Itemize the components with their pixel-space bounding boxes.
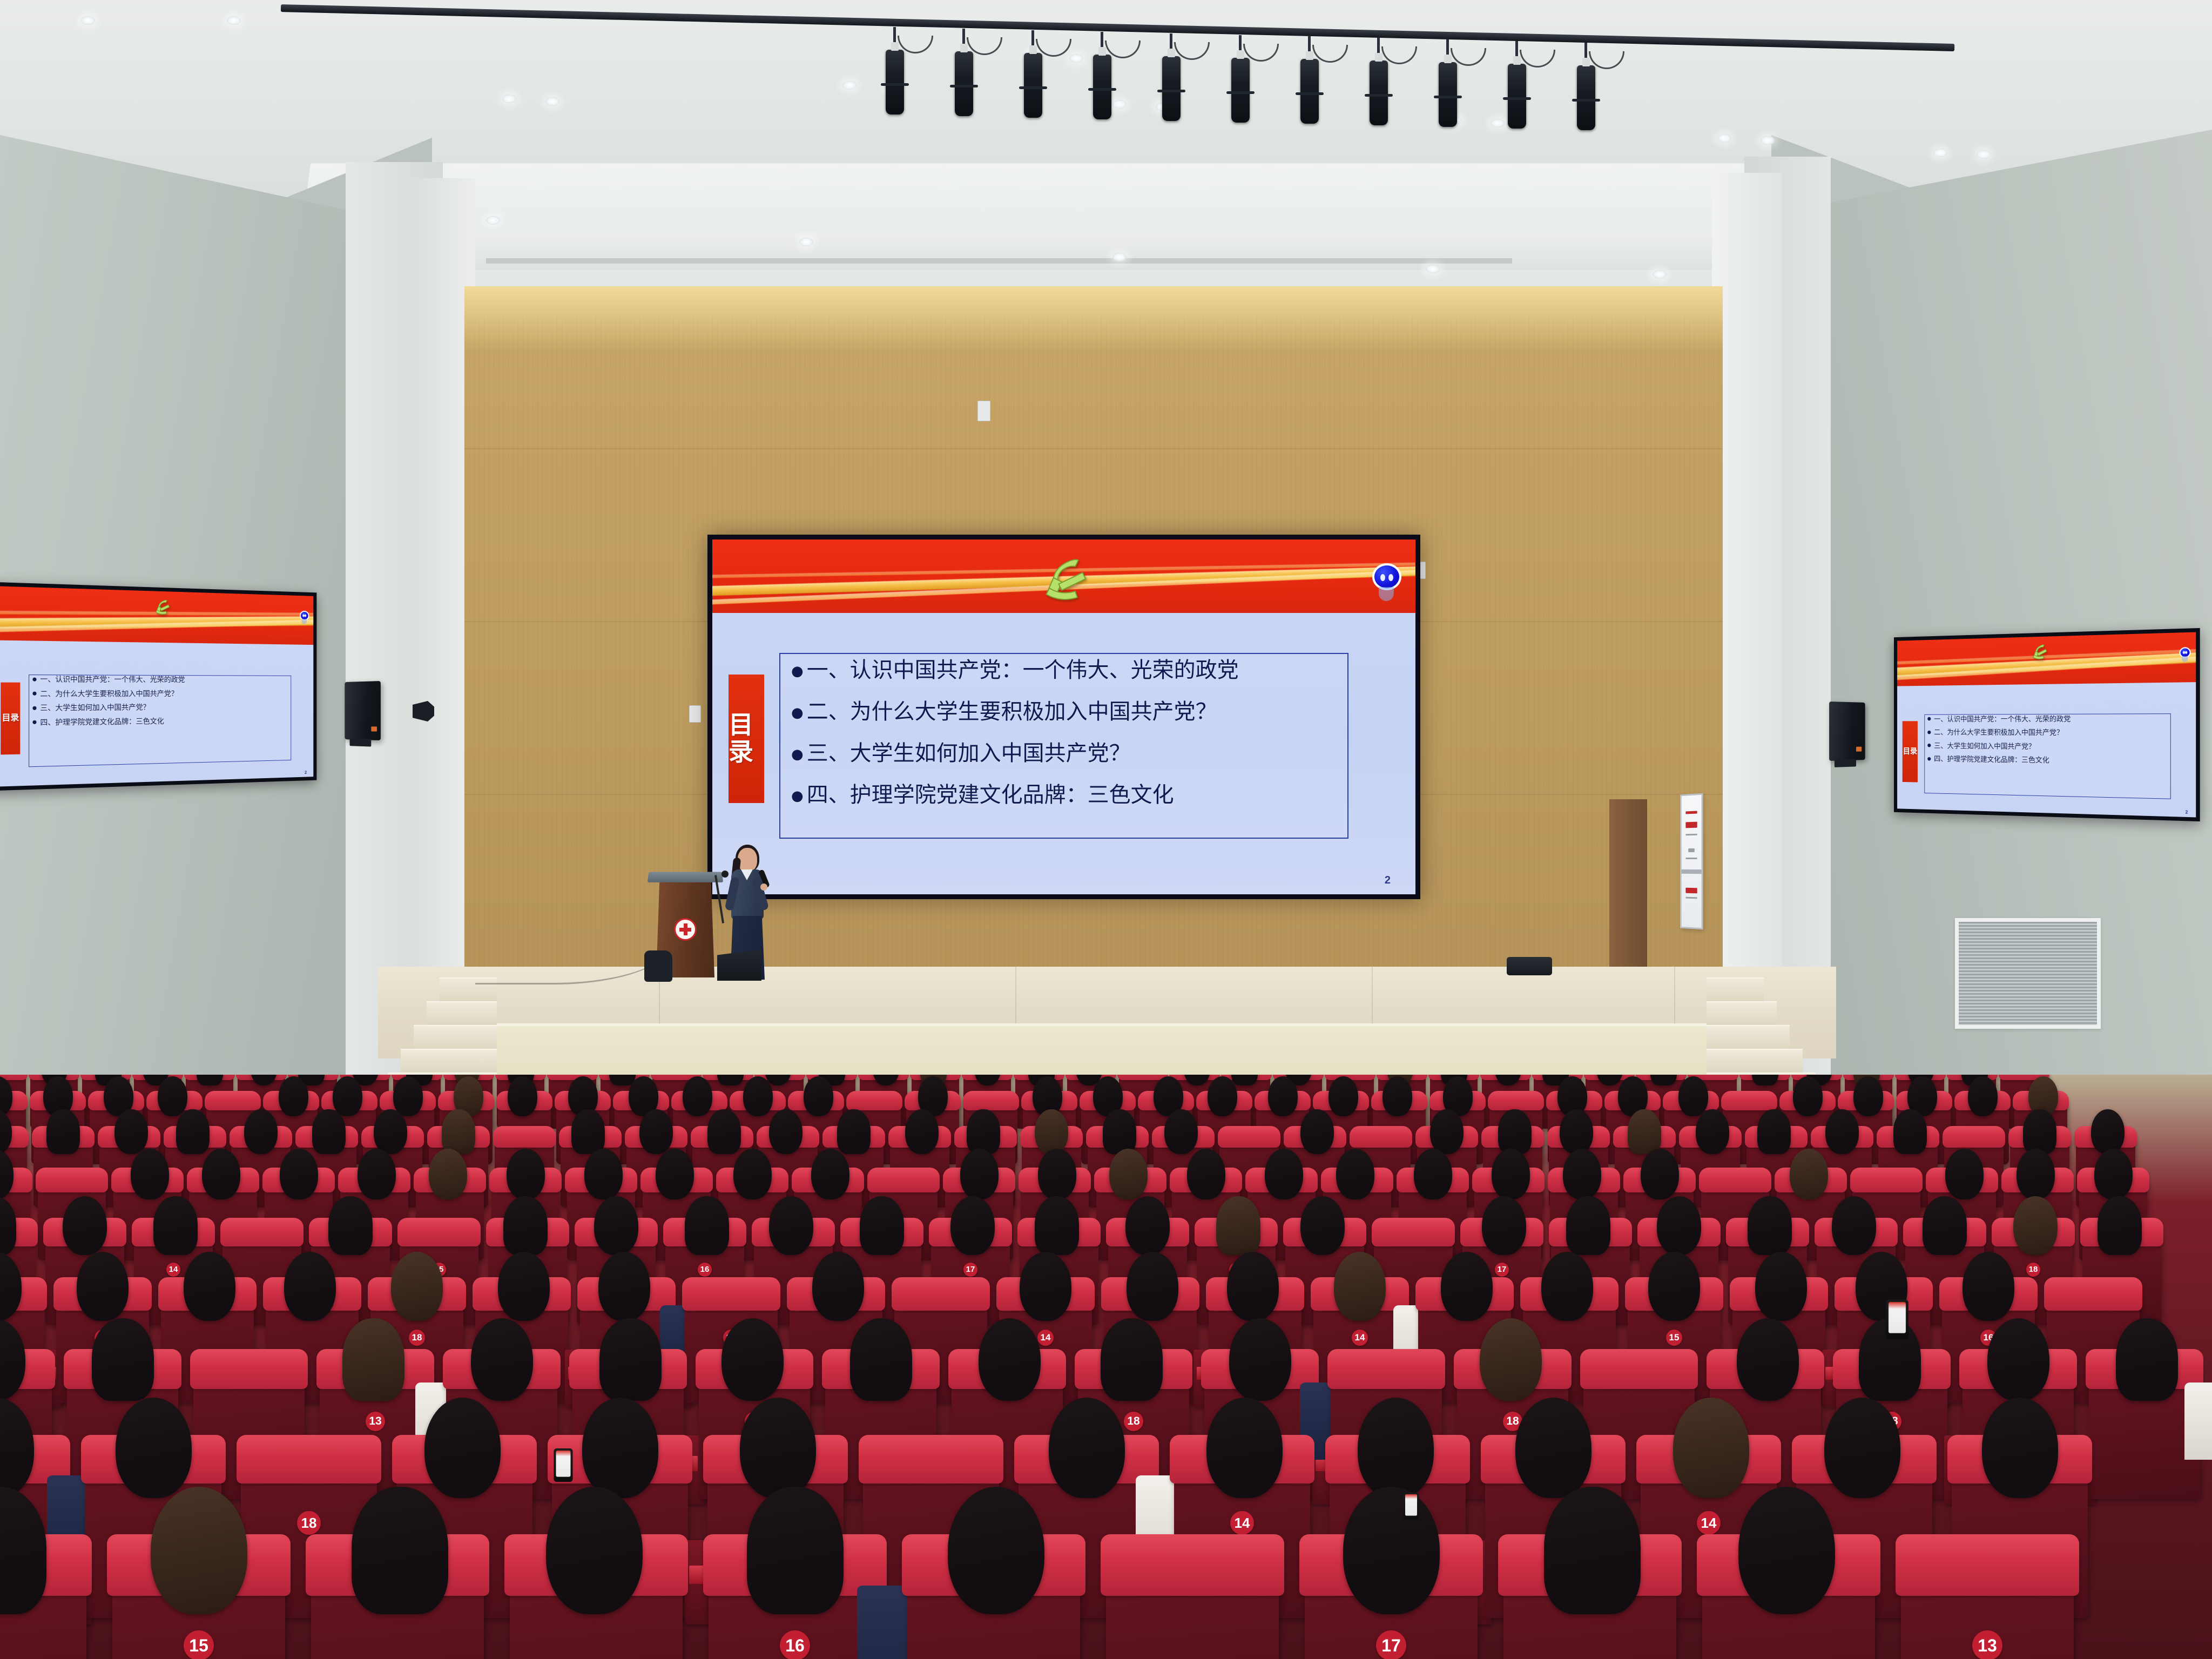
audience-member [176,1109,210,1154]
audience-member [1963,1252,2014,1321]
audience-member [508,1076,537,1116]
audience-member [1544,1487,1641,1614]
audience-member [1334,1252,1386,1321]
audience-member [1752,1075,1778,1085]
audience-member [582,1398,658,1498]
seat-number-badge: 16 [780,1630,810,1659]
list-item: ●二、为什么大学生要积极加入中国共产党？ [32,691,305,699]
audience-member [1657,1196,1701,1255]
audience-member [967,1109,1000,1154]
audience-member [153,1196,198,1255]
audience-member [1265,1149,1303,1199]
slide-toc-list: ●一、认识中国共产党：一个伟大、光荣的政党 ●二、为什么大学生要积极加入中国共产… [791,659,1337,826]
robot-mascot-icon [1372,563,1401,592]
audience-member [1755,1252,1807,1321]
seat-number-badge: 13 [1972,1630,2002,1659]
audience-phone-screen [1404,1493,1419,1520]
audience-member [1757,1109,1791,1154]
audience-member [1125,1196,1170,1255]
main-led-screen: 目录 ●一、认识中国共产党：一个伟大、光荣的政党 ●二、为什么大学生要积极加入中… [707,535,1420,899]
audience-member [197,1075,223,1085]
audience-member [837,1109,871,1154]
stage-spotlight-icon [955,51,973,116]
audience-phone-screen [1886,1299,1908,1339]
audience-member [1793,1076,1823,1116]
audience-member [960,1149,999,1199]
audience-member [1229,1318,1291,1401]
audience-member [1127,1252,1178,1321]
audience-member [1923,1196,1967,1255]
seat-headrest [237,1435,381,1483]
audience-member [1049,1398,1125,1498]
seat-headrest [1350,1126,1413,1148]
audience-member [1480,1318,1542,1401]
audience-member [358,1149,396,1199]
list-item: ●一、认识中国共产党：一个伟大、光荣的政党 [791,659,1337,681]
audience-member [1206,1398,1283,1498]
downlight-icon [1112,253,1127,261]
audience-member [743,1076,773,1116]
audience-member [63,1196,107,1255]
ceiling-slot-vent [486,258,1512,264]
downlight-icon [1112,100,1127,109]
side-monitor-left: 目录 ●一、认识中国共产党：一个伟大、光荣的政党 ●二、为什么大学生要积极加入中… [0,582,316,791]
audience-member [769,1196,813,1255]
downlight-icon [1977,150,1991,159]
audience-member [1648,1252,1700,1321]
stage-spotlight-icon [1093,55,1111,119]
seat-headrest [190,1349,308,1389]
slide-page-number: 2 [1385,874,1391,887]
audience-member [850,1318,912,1401]
audience-member [594,1196,638,1255]
audience-member [1945,1149,1984,1199]
audience-member [769,1109,802,1154]
slide-toc-tab: 目录 [729,675,764,803]
audience-member [279,1076,308,1116]
seat-headrest [1699,1168,1771,1192]
audience-member [1790,1149,1828,1199]
stage-spotlight-icon [1162,56,1181,121]
downlight-icon [502,95,516,103]
slide-page-number: 2 [305,770,307,775]
cpc-hammer-sickle-emblem [1038,547,1090,605]
audience-member [352,1487,448,1614]
audience-member [2094,1149,2133,1199]
audience-member [92,1318,154,1401]
audience-member [1498,1109,1532,1154]
seat-headrest [2044,1277,2142,1311]
wall-switch-plate-upper[interactable] [977,401,990,421]
seat-headrest [1896,1534,2079,1596]
side-monitor-right: 目录 ●一、认识中国共产党：一个伟大、光荣的政党 ●二、为什么大学生要积极加入中… [1894,628,2200,821]
downlight-icon [1717,134,1731,143]
seat-headrest [1850,1168,1923,1192]
downlight-icon [81,16,95,25]
audience-member [683,1076,712,1116]
audience-member [1101,1318,1163,1401]
seat-number-badge: 14 [1037,1330,1054,1346]
horn-speaker-left [413,701,434,721]
slide-page-number: 2 [2186,810,2188,815]
audience-member [2017,1149,2055,1199]
seat-headrest [1218,1126,1281,1148]
seat-number-badge: 18 [297,1511,321,1535]
audience-member [1678,1076,1708,1116]
seat-number-badge: 14 [1697,1511,1721,1535]
audience-member [1515,1398,1591,1498]
seat-headrest [205,1091,261,1110]
audience-member [184,1252,235,1321]
stage-spotlight-icon [1439,62,1457,127]
seat-number-badge: 18 [409,1330,425,1346]
audience-member [584,1149,623,1199]
audience-member [1853,1076,1883,1116]
audience-member [328,1196,373,1255]
audience-member [1832,1196,1876,1255]
cove-light-glow [464,286,1723,351]
audience-member [2116,1318,2178,1401]
downlight-icon [842,81,857,90]
audience-member-clothing [857,1586,909,1659]
audience-member [1441,1252,1493,1321]
audience-member [158,1076,187,1116]
audience-member [442,1109,475,1154]
seat-number-badge: 16 [698,1263,712,1277]
seat-number-badge: 17 [1495,1263,1509,1277]
audience-member [1300,1196,1345,1255]
hvac-vent-right [1955,918,2101,1029]
stage-spotlight-icon [1300,59,1319,124]
audience-member [280,1149,318,1199]
audience-member [811,1149,849,1199]
audience-member [1328,1076,1358,1116]
audience-member [639,1109,673,1154]
audience-member [1414,1149,1452,1199]
audience-member [1824,1398,1900,1498]
audience-member [905,1109,939,1154]
list-item: ●二、为什么大学生要积极加入中国共产党？ [1927,730,2186,738]
audience-member [1382,1076,1412,1116]
list-item: ●二、为什么大学生要积极加入中国共产党？ [791,701,1337,723]
seat-number-badge: 15 [184,1630,214,1659]
seat-headrest [846,1091,902,1110]
seat-headrest [1943,1126,2006,1148]
seat-headrest [397,1218,481,1246]
audience-member [1164,1109,1198,1154]
audience-member [948,1487,1044,1614]
audience-member [424,1398,501,1498]
audience-member [1103,1109,1136,1154]
seat-number-badge: 14 [1352,1330,1368,1346]
audience-member [1336,1149,1374,1199]
audience-member [598,1252,650,1321]
audience-member [503,1196,548,1255]
audience-member [546,1487,643,1614]
audience-member [429,1149,467,1199]
audience-member [1109,1149,1148,1199]
audience-member [1566,1196,1610,1255]
seat-headrest [867,1168,940,1192]
audience-member [1673,1398,1749,1498]
slide-banner [712,539,1415,613]
cpc-hammer-sickle-icon [2031,640,2048,662]
wall-speaker-left [345,681,381,740]
audience-member [1035,1109,1068,1154]
list-item: ●三、大学生如何加入中国共产党？ [1927,743,2186,752]
downlight-icon [545,97,559,106]
audience-member [571,1109,605,1154]
auditorium-scene: 目录 ●一、认识中国共产党：一个伟大、光荣的政党 ●二、为什么大学生要积极加入中… [0,0,2212,1659]
stage-spotlight-icon [1231,58,1250,123]
seat-number-badge: 14 [1230,1511,1254,1535]
stage-spotlight-icon [1024,53,1042,118]
audience-member [733,1149,772,1199]
audience-member [747,1487,844,1614]
audience-member [46,1109,80,1154]
audience-member [1216,1196,1260,1255]
audience-member [471,1318,533,1401]
audience-member [202,1149,240,1199]
stage-spotlight-icon [1577,65,1595,130]
downlight-icon [1069,54,1083,63]
audience-member [1492,1149,1530,1199]
wall-switch-plate-lower[interactable] [689,705,701,723]
audience-member [2098,1196,2142,1255]
stage-spotlight-icon [1370,60,1388,125]
seat-number-badge: 14 [166,1263,180,1277]
audience-member [393,1076,423,1116]
seat-headrest [1327,1349,1445,1389]
seat-headrest [682,1277,780,1311]
list-item: ●三、大学生如何加入中国共产党？ [32,704,305,713]
audience-member [1268,1076,1298,1116]
audience-member [342,1318,404,1401]
wall-notice-poster [1680,793,1703,930]
downlight-icon [1491,119,1505,127]
audience-member [1641,1149,1679,1199]
audience-member [717,1075,744,1085]
audience-member [979,1318,1041,1401]
audience-member [151,1487,247,1614]
audience-member [1541,1252,1593,1321]
audience-member [804,1076,833,1116]
audience-member [860,1196,904,1255]
seat-headrest [1721,1091,1777,1110]
seat-headrest [493,1126,556,1148]
audience-member [950,1196,995,1255]
seat-headrest [1372,1218,1455,1246]
audience-member [1825,1109,1859,1154]
robot-mascot-icon [2180,648,2191,659]
downlight-icon [1933,149,1947,157]
audience-member [707,1109,741,1154]
audience-member [1187,1149,1225,1199]
audience-member [1020,1252,1071,1321]
wall-speaker-right [1829,702,1865,761]
downlight-icon [1426,265,1440,273]
toc-tab-label: 目录 [2,714,19,723]
audience-member [1738,1487,1835,1614]
list-item: ●一、认识中国共产党：一个伟大、光荣的政党 [1927,716,2186,723]
audience-member [1748,1196,1792,1255]
seat-headrest [892,1277,990,1311]
audience-member [1982,1398,2058,1498]
ceiling-band [346,232,1728,270]
seat-number-badge: 13 [366,1412,385,1431]
downlight-icon [486,216,500,225]
audience-member [1628,1109,1661,1154]
side-door-right[interactable] [1609,799,1647,977]
seat-number-badge: 17 [963,1263,977,1277]
audience-member [740,1398,816,1498]
seat-number-badge: 18 [2026,1263,2040,1277]
audience-member [498,1252,550,1321]
audience-member [312,1109,346,1154]
backpack-on-stage [644,950,672,982]
audience-member [2091,1109,2125,1154]
audience-member [812,1252,864,1321]
list-item: ●四、护理学院党建文化品牌：三色文化 [1927,756,2186,766]
seat-headrest [1101,1534,1284,1596]
robot-mascot-icon [300,610,309,621]
list-item: ●四、护理学院党建文化品牌：三色文化 [32,717,305,727]
cpc-hammer-sickle-icon [153,595,171,616]
audience-member [1482,1196,1526,1255]
stage-spotlight-icon [886,50,904,114]
downlight-icon [1653,270,1667,279]
audience-member [1987,1318,2049,1401]
downlight-icon [227,16,241,25]
audience-member [391,1252,443,1321]
list-item: ●一、认识中国共产党：一个伟大、光荣的政党 [32,677,305,684]
seat-headrest [1580,1349,1698,1389]
audience-member [1737,1318,1799,1401]
list-item: ●四、护理学院党建文化品牌：三色文化 [791,784,1337,806]
podium-top-surface [648,872,723,882]
audience-member [1696,1109,1729,1154]
audience-member [685,1196,729,1255]
audience-seat[interactable] [1106,1561,1279,1659]
audience-member [1358,1398,1434,1498]
audience-member [656,1149,694,1199]
audience-member [131,1149,169,1199]
audience-member [1208,1076,1237,1116]
audience-member [721,1318,784,1401]
audience-phone-screen [554,1448,572,1482]
seat-number-badge: 17 [1376,1630,1406,1659]
seat-headrest [963,1091,1019,1110]
audience-member [114,1109,148,1154]
audience-member [244,1109,278,1154]
downlight-icon [1761,136,1775,145]
audience-seating-area: 1415161713171818181814141415161713171818… [0,1075,2212,1659]
audience-member [1300,1109,1334,1154]
audience-member [1563,1149,1601,1199]
medical-cross-logo-icon [674,918,697,941]
audience-member [333,1076,362,1116]
audience-member [1038,1149,1076,1199]
stage-spotlight-icon [1508,64,1526,129]
audience-member [599,1318,662,1401]
audience-member [1231,1075,1258,1085]
list-item: ●三、大学生如何加入中国共产党？ [791,743,1337,764]
audience-member [374,1109,407,1154]
audience-member [1968,1076,1998,1116]
audience-member [1343,1487,1440,1614]
audience-member [1893,1109,1927,1154]
seat-headrest [220,1218,304,1246]
seat-headrest [1488,1091,1544,1110]
audience-member [2023,1109,2056,1154]
seat-number-badge: 15 [1666,1330,1682,1346]
seat-headrest [859,1435,1003,1483]
audience-member [1430,1109,1464,1154]
audience-seat[interactable]: 13 [1901,1561,2074,1659]
audience-member [284,1252,336,1321]
toc-tab-label: 目录 [1903,747,1917,756]
toc-tab-label: 目录 [729,712,764,765]
audience-member [2013,1196,2058,1255]
audience-member [1650,1075,1677,1085]
audience-member [1035,1196,1079,1255]
audience-member [507,1149,545,1199]
audience-member [1227,1252,1279,1321]
seat-number-badge: 18 [1124,1412,1143,1431]
stage-equipment-box [1507,957,1552,975]
audience-member [77,1252,129,1321]
audience-member [116,1398,192,1498]
audience-member-clothing [2184,1382,2212,1460]
downlight-icon [799,238,813,246]
audience-member [1560,1109,1593,1154]
seat-headrest [36,1168,108,1192]
